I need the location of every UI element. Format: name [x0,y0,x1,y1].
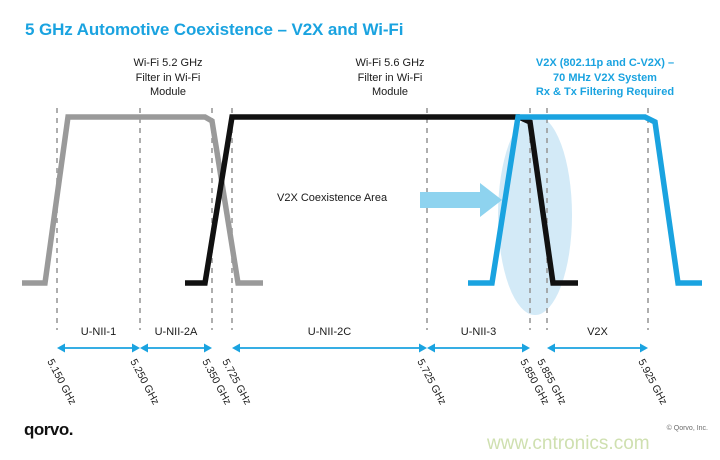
caption-line: Filter in Wi-Fi [88,71,248,86]
coexistence-area-label: V2X Coexistence Area [277,192,387,204]
band-arrow-head [547,344,555,353]
band-arrow-head [140,344,148,353]
caption-line: Wi-Fi 5.2 GHz [88,56,248,71]
band-span-arrows [57,344,648,353]
caption-line: Module [88,85,248,100]
curve-caption-v2x: V2X (802.11p and C-V2X) –70 MHz V2X Syst… [500,56,710,100]
curve-caption-wifi52: Wi-Fi 5.2 GHzFilter in Wi-FiModule [88,56,248,100]
band-arrow-head [522,344,530,353]
diagram-canvas: 5 GHz Automotive Coexistence – V2X and W… [0,0,720,460]
copyright-notice: © Qorvo, Inc. [667,425,708,432]
watermark: www.cntronics.com [487,433,650,455]
caption-line: Filter in Wi-Fi [310,71,470,86]
band-arrow-head [132,344,140,353]
curve-caption-wifi56: Wi-Fi 5.6 GHzFilter in Wi-FiModule [310,56,470,100]
band-label: U-NII-3 [427,326,530,338]
caption-line: V2X (802.11p and C-V2X) – [500,56,710,71]
band-arrow-head [640,344,648,353]
band-arrow-head [57,344,65,353]
band-label: U-NII-2A [140,326,212,338]
caption-line: 70 MHz V2X System [500,71,710,86]
qorvo-logo: qorvo. [24,420,73,440]
band-arrow-head [232,344,240,353]
coexistence-callout-arrow [420,183,502,217]
callout-arrow-shape [420,183,502,217]
band-arrow-head [419,344,427,353]
caption-line: Wi-Fi 5.6 GHz [310,56,470,71]
band-label: V2X [547,326,648,338]
caption-line: Module [310,85,470,100]
band-arrow-head [427,344,435,353]
caption-line: Rx & Tx Filtering Required [500,85,710,100]
band-label: U-NII-2C [232,326,427,338]
band-arrow-head [204,344,212,353]
band-label: U-NII-1 [57,326,140,338]
